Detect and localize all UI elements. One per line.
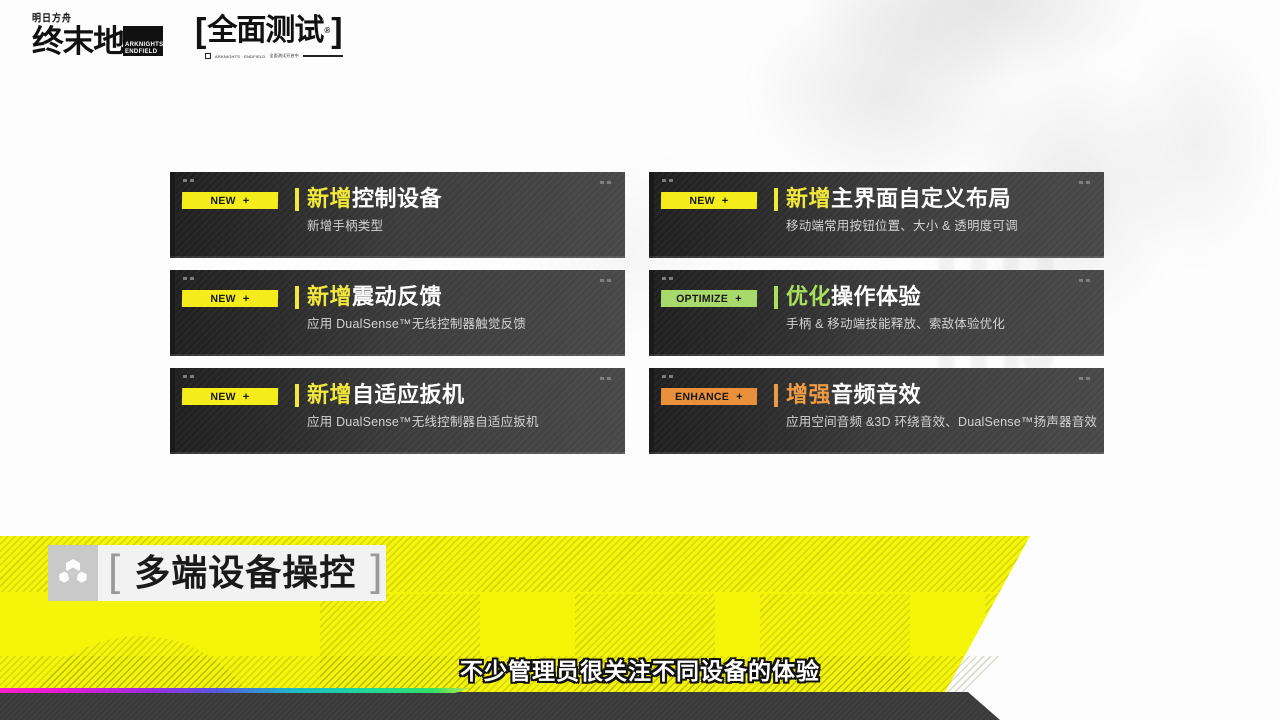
section-bracket-open: [ bbox=[108, 549, 120, 593]
header: 明日方舟 终末地 ARKNIGHTS ENDFIELD [ 全面测试 ® ] bbox=[32, 14, 344, 56]
title-accent-tick bbox=[295, 286, 299, 309]
card-title: 优化操作体验 bbox=[786, 284, 921, 310]
card-body: 新增控制设备新增手柄类型 bbox=[295, 186, 613, 234]
corner-dots-icon bbox=[662, 277, 673, 280]
card-subtitle: 新增手柄类型 bbox=[307, 218, 613, 234]
card-title-keyword: 新增 bbox=[307, 284, 352, 309]
feature-card: ENHANCE+增强音频音效应用空间音频 &3D 环绕音效、DualSense™… bbox=[649, 368, 1104, 454]
badge-plus-icon: + bbox=[722, 195, 729, 207]
card-subtitle: 应用空间音频 &3D 环绕音效、DualSense™扬声器音效 bbox=[786, 414, 1092, 430]
corner-dots-icon bbox=[1079, 279, 1090, 282]
caption-subtitle: 不少管理员很关注不同设备的体验 bbox=[0, 652, 1280, 686]
card-title-rest: 控制设备 bbox=[352, 186, 442, 211]
card-title-rest: 操作体验 bbox=[831, 284, 921, 309]
corner-dots-icon bbox=[183, 375, 194, 378]
badge-label: NEW bbox=[210, 391, 236, 403]
feature-card: NEW+新增主界面自定义布局移动端常用按钮位置、大小 & 透明度可调 bbox=[649, 172, 1104, 258]
card-status-badge: NEW+ bbox=[182, 290, 278, 307]
badge-plus-icon: + bbox=[243, 391, 250, 403]
card-body: 优化操作体验手柄 & 移动端技能释放、索敌体验优化 bbox=[774, 284, 1092, 332]
card-body: 增强音频音效应用空间音频 &3D 环绕音效、DualSense™扬声器音效 bbox=[774, 382, 1092, 430]
corner-dots-icon bbox=[662, 375, 673, 378]
badge-label: OPTIMIZE bbox=[676, 293, 728, 305]
section-title: 多端设备操控 bbox=[134, 553, 356, 593]
card-subtitle: 应用 DualSense™无线控制器自适应扳机 bbox=[307, 414, 613, 430]
title-accent-tick bbox=[774, 188, 778, 211]
corner-dots-icon bbox=[1079, 181, 1090, 184]
card-title: 新增控制设备 bbox=[307, 186, 442, 212]
card-left-bar bbox=[170, 172, 175, 258]
card-status-badge: NEW+ bbox=[661, 192, 757, 209]
card-left-bar bbox=[649, 172, 654, 258]
feature-card-grid: NEW+新增控制设备新增手柄类型NEW+新增主界面自定义布局移动端常用按钮位置、… bbox=[170, 172, 1104, 454]
logo-en-line1: ARKNIGHTS bbox=[125, 42, 163, 49]
feature-card: NEW+新增自适应扳机应用 DualSense™无线控制器自适应扳机 bbox=[170, 368, 625, 454]
card-title: 新增自适应扳机 bbox=[307, 382, 465, 408]
footer-rainbow-line bbox=[0, 688, 470, 693]
badge-sub-left: ARKNIGHTS : ENDFIELD bbox=[215, 54, 265, 59]
card-status-badge: NEW+ bbox=[182, 192, 278, 209]
badge-label: ENHANCE bbox=[675, 391, 729, 403]
card-title: 新增震动反馈 bbox=[307, 284, 442, 310]
badge-bracket-close: ] bbox=[331, 14, 341, 48]
card-title-rest: 自适应扳机 bbox=[352, 382, 465, 407]
logo-en-line2: ENDFIELD bbox=[125, 49, 163, 56]
logo-mark: ARKNIGHTS ENDFIELD bbox=[123, 26, 163, 56]
title-accent-tick bbox=[774, 286, 778, 309]
card-status-badge: OPTIMIZE+ bbox=[661, 290, 757, 307]
card-title-keyword: 新增 bbox=[307, 186, 352, 211]
badge-text: 全面测试 bbox=[207, 16, 323, 46]
logo-pretitle: 明日方舟 bbox=[32, 14, 163, 24]
corner-dots-icon bbox=[600, 279, 611, 282]
badge-label: NEW bbox=[210, 293, 236, 305]
card-left-bar bbox=[170, 368, 175, 454]
card-status-badge: NEW+ bbox=[182, 388, 278, 405]
section-title-plate: [ 多端设备操控 ] bbox=[48, 545, 386, 601]
badge-label: NEW bbox=[689, 195, 715, 207]
title-accent-tick bbox=[774, 384, 778, 407]
corner-dots-icon bbox=[600, 377, 611, 380]
feature-card: NEW+新增震动反馈应用 DualSense™无线控制器触觉反馈 bbox=[170, 270, 625, 356]
badge-plus-icon: + bbox=[243, 293, 250, 305]
section-bracket-close: ] bbox=[370, 549, 382, 593]
corner-dots-icon bbox=[600, 181, 611, 184]
badge-square-icon bbox=[205, 53, 211, 59]
badge-bracket-open: [ bbox=[195, 14, 205, 48]
game-logo: 明日方舟 终末地 ARKNIGHTS ENDFIELD bbox=[32, 15, 163, 56]
card-title-keyword: 新增 bbox=[786, 186, 831, 211]
card-left-bar bbox=[170, 270, 175, 356]
title-accent-tick bbox=[295, 384, 299, 407]
card-body: 新增自适应扳机应用 DualSense™无线控制器自适应扳机 bbox=[295, 382, 613, 430]
slide-root: 冊 明日方舟 终末地 ARKNIGHTS ENDFIELD [ 全面测试 ® ] bbox=[0, 0, 1280, 720]
card-subtitle: 应用 DualSense™无线控制器触觉反馈 bbox=[307, 316, 613, 332]
card-title-keyword: 优化 bbox=[786, 284, 831, 309]
card-title-rest: 震动反馈 bbox=[352, 284, 442, 309]
card-title-keyword: 增强 bbox=[786, 382, 831, 407]
corner-dots-icon bbox=[662, 179, 673, 182]
logo-title: 终末地 bbox=[32, 27, 124, 56]
badge-label: NEW bbox=[210, 195, 236, 207]
card-subtitle: 手柄 & 移动端技能释放、索敌体验优化 bbox=[786, 316, 1092, 332]
card-subtitle: 移动端常用按钮位置、大小 & 透明度可调 bbox=[786, 218, 1092, 234]
badge-plus-icon: + bbox=[243, 195, 250, 207]
card-title-keyword: 新增 bbox=[307, 382, 352, 407]
card-status-badge: ENHANCE+ bbox=[661, 388, 757, 405]
test-phase-badge: [ 全面测试 ® ] ARKNIGHTS : ENDFIELD 全面测试开启中 bbox=[193, 14, 344, 56]
card-body: 新增震动反馈应用 DualSense™无线控制器触觉反馈 bbox=[295, 284, 613, 332]
badge-sub-right: 全面测试开启中 bbox=[269, 53, 298, 59]
badge-plus-icon: + bbox=[736, 391, 743, 403]
card-title-rest: 音频音效 bbox=[831, 382, 921, 407]
badge-superscript: ® bbox=[324, 27, 329, 35]
badge-plus-icon: + bbox=[735, 293, 742, 305]
card-body: 新增主界面自定义布局移动端常用按钮位置、大小 & 透明度可调 bbox=[774, 186, 1092, 234]
card-left-bar bbox=[649, 368, 654, 454]
corner-dots-icon bbox=[183, 179, 194, 182]
feature-card: OPTIMIZE+优化操作体验手柄 & 移动端技能释放、索敌体验优化 bbox=[649, 270, 1104, 356]
corner-dots-icon bbox=[1079, 377, 1090, 380]
feature-card: NEW+新增控制设备新增手柄类型 bbox=[170, 172, 625, 258]
card-title: 增强音频音效 bbox=[786, 382, 921, 408]
badge-rule bbox=[303, 55, 343, 57]
card-title-rest: 主界面自定义布局 bbox=[831, 186, 1011, 211]
cube-hexagon-icon bbox=[48, 545, 98, 601]
card-title: 新增主界面自定义布局 bbox=[786, 186, 1011, 212]
card-left-bar bbox=[649, 270, 654, 356]
title-accent-tick bbox=[295, 188, 299, 211]
corner-dots-icon bbox=[183, 277, 194, 280]
